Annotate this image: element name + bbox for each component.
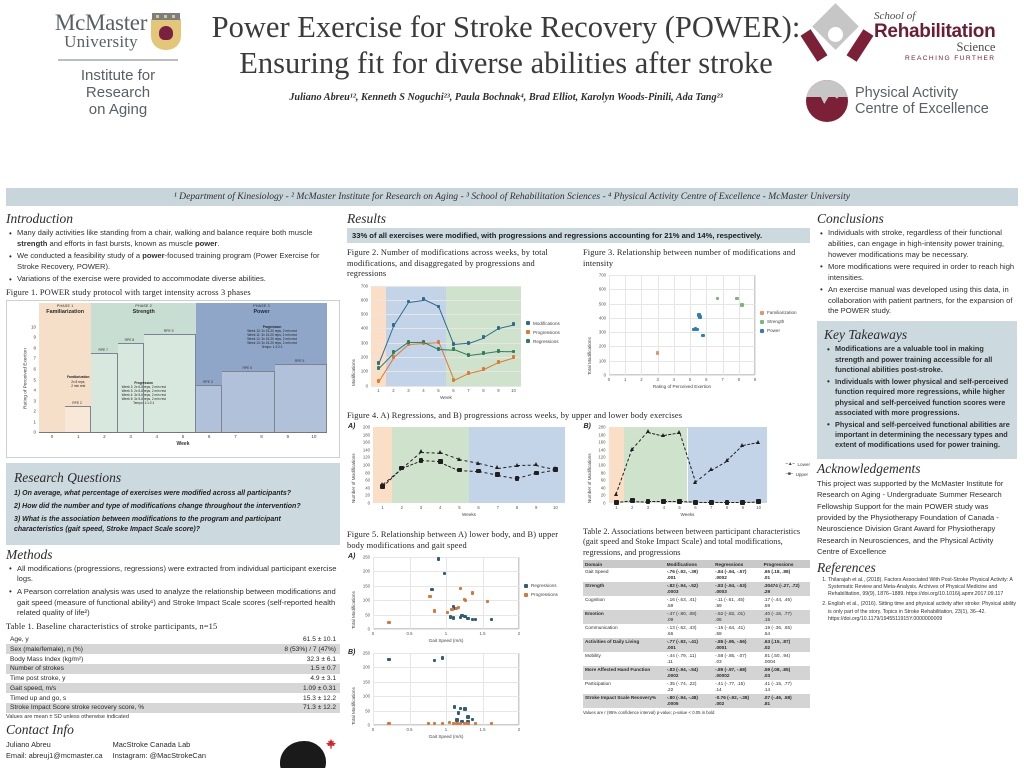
poster-root: McMaster University Institute for Resear…	[0, 0, 1024, 768]
figure1-x-tick: 10	[311, 434, 316, 439]
fig4b-x-tick: 7	[710, 505, 712, 510]
fig4a-y-label: Number of Modifications	[351, 453, 356, 503]
fig2-x-tick: 8	[482, 388, 484, 393]
fig5b-x-tick: 1.5	[480, 727, 486, 732]
fig2-data-point	[452, 378, 456, 382]
fig4b-data-point	[725, 458, 729, 462]
figure1-rpe-label: RPE 5	[242, 366, 252, 370]
fig3-gridline-v	[739, 275, 740, 375]
fig4a-data-point	[553, 467, 558, 472]
fig2-x-tick: 9	[497, 388, 499, 393]
conclusions-bullets: Individuals with stroke, regardless of t…	[817, 228, 1017, 317]
table2-value: -.16 (-.63, .41).59	[665, 596, 713, 610]
methods-bullet: All modifications (progressions, regress…	[6, 564, 340, 586]
table-row: Time post stroke, y4.9 ± 3.1	[6, 674, 340, 684]
fig5a-x-tick: 1.5	[480, 631, 486, 636]
fig3-x-tick: 7	[721, 377, 723, 382]
table2-value: .30474 (-.27, .72).29	[762, 582, 810, 596]
figure1-x-tick: 7	[234, 434, 237, 439]
fig5a-gridline-v	[373, 557, 374, 629]
fig5b-x-tick: 0.5	[407, 727, 413, 732]
legend-swatch	[760, 320, 764, 324]
table2-value: -.77 (-.92, -.41).001	[665, 638, 713, 652]
figure1-rpe-label: RPE 3	[203, 380, 213, 384]
fig5b-data-point	[453, 705, 456, 708]
table2-value: -.58 (-.85, -.07).03	[713, 652, 761, 666]
fig5a-gridline-v	[519, 557, 520, 629]
fig3-x-tick: 9	[754, 377, 756, 382]
legend-label: Regressions	[531, 583, 557, 588]
table-row: Gait speed, m/s1.09 ± 0.31	[6, 683, 340, 693]
fig5b-x-tick: 0	[372, 727, 374, 732]
fig4b-data-point	[661, 499, 666, 504]
fig4a-data-point	[438, 459, 443, 464]
fig4a-data-point	[457, 468, 462, 473]
table-row: Emotion-.47 (-.80, .08).09-.52 (-.82, .0…	[583, 610, 810, 624]
fig4a-data-point	[476, 461, 480, 465]
fig3-x-tick: 0	[608, 377, 610, 382]
table1-note: Values are mean ± SD unless otherwise in…	[6, 714, 340, 720]
acknowledgements-text: This project was supported by the McMast…	[817, 478, 1017, 558]
fig4a-x-tick: 5	[458, 505, 460, 510]
fig2-y-tick: 500	[347, 312, 368, 317]
figure1-phase-header: PHASE 3Power	[196, 303, 327, 320]
fig5a-x-tick: 1	[445, 631, 447, 636]
fig5a-data-point	[430, 588, 433, 591]
fig2-data-point	[497, 349, 501, 353]
fig5b-y-tick: 200	[347, 665, 370, 670]
legend-item: Modifications	[526, 321, 560, 326]
fig5b-gridline-v	[410, 653, 411, 725]
table-row: Body Mass Index (kg/m²)32.3 ± 6.1	[6, 654, 340, 664]
fig5a-data-point	[486, 600, 489, 603]
table2-domain: Communication	[583, 624, 665, 638]
references-list: Thilarajah et al., (2018). Factors Assoc…	[828, 577, 1017, 624]
results-banner: 33% of all exercises were modified, with…	[347, 228, 810, 243]
figure1-x-tick: 9	[286, 434, 289, 439]
rehab-diamond-icon	[806, 8, 868, 66]
figure4-panel-b-label: B)	[584, 423, 591, 430]
table1-label: Timed up and go, s	[6, 693, 241, 703]
figure1-progression-note: ProgressionWeek 2: 2x 6-8 reps, 2 min re…	[84, 381, 204, 406]
figure5a-chart: 05010015020025000.511.52Total Modificati…	[347, 553, 575, 649]
fig2-y-tick: 600	[347, 297, 368, 302]
rehab-logo-line3: Science	[874, 41, 995, 54]
fig3-x-tick: 8	[738, 377, 740, 382]
legend-swatch	[526, 339, 530, 343]
fig2-x-tick: 7	[467, 388, 469, 393]
fig3-gridline-v	[706, 275, 707, 375]
fig4b-x-tick: 4	[663, 505, 665, 510]
fig3-gridline	[609, 346, 755, 347]
fig5b-x-label: Gait Speed (m/s)	[373, 734, 519, 739]
table1-label: Number of strokes	[6, 664, 241, 674]
legend-marker: --▲--	[785, 461, 794, 467]
fig5a-gridline-v	[483, 557, 484, 629]
fig4a-x-label: Weeks	[373, 512, 565, 517]
fig5a-data-point	[471, 591, 474, 594]
figure1-caption: Figure 1. POWER study protocol with targ…	[6, 288, 340, 299]
fig5a-y-label: Total Modifications	[351, 591, 356, 629]
fig4b-x-label: Weeks	[609, 512, 767, 517]
fig3-y-tick: 400	[583, 315, 606, 320]
figure4-panel-a-label: A)	[348, 423, 355, 430]
fig4a-data-point	[515, 476, 520, 481]
fig4b-data-point	[693, 480, 697, 484]
fig2-gridline	[371, 371, 521, 372]
fig4a-x-tick: 4	[439, 505, 441, 510]
fig4b-x-tick: 2	[631, 505, 633, 510]
fig2-x-tick: 6	[452, 388, 454, 393]
table2-value: .65 (.18, .88).01	[762, 568, 810, 582]
table2-value: -.35 (-.74, .22).22	[665, 680, 713, 694]
key-takeaways-heading: Key Takeaways	[824, 327, 1010, 343]
legend-swatch	[526, 330, 530, 334]
pace-logo-line1: Physical Activity	[855, 85, 989, 101]
fig5b-data-point	[387, 658, 390, 661]
fig5b-y-label: Total Modifications	[351, 687, 356, 725]
fig3-gridline	[609, 275, 755, 276]
fig4a-x-tick: 6	[477, 505, 479, 510]
introduction-bullets: Many daily activities like standing from…	[6, 228, 340, 285]
fig3-gridline	[609, 304, 755, 305]
table2-domain: Activities of Daily Living	[583, 638, 665, 652]
table2-header: Modifications	[665, 560, 713, 568]
fig4b-y-tick: 0	[583, 501, 606, 506]
fig5b-data-point	[457, 711, 460, 714]
fig5b-data-point	[441, 722, 444, 725]
fig2-data-point	[482, 367, 486, 371]
fig3-gridline-v	[641, 275, 642, 375]
introduction-bullet: We conducted a feasibility study of a po…	[6, 251, 340, 273]
fig5b-data-point	[459, 722, 462, 725]
fig5b-data-point	[459, 707, 462, 710]
fig3-gridline-v	[625, 275, 626, 375]
table-row: Stroke Impact Score stroke recovery scor…	[6, 703, 340, 713]
fig2-data-point	[437, 347, 441, 351]
figure1-x-tick: 1	[77, 434, 80, 439]
table2-value: .63 (.15, .87).02	[762, 638, 810, 652]
fig4b-data-point	[614, 500, 619, 505]
figure1-rpe-label: RPE 5	[295, 359, 305, 363]
fig3-x-tick: 1	[624, 377, 626, 382]
fig5a-data-point	[457, 606, 460, 609]
fig2-data-point	[467, 371, 471, 375]
research-question: 1) On average, what percentage of exerci…	[14, 489, 332, 498]
table2-domain: Stroke Impact Scale Recovery%	[583, 694, 665, 708]
table2-value: -.13 (-.62, .43).66	[665, 624, 713, 638]
fig2-x-tick: 4	[422, 388, 424, 393]
table-row: Cognition-.16 (-.63, .41).59-.11 (-.61, …	[583, 596, 810, 610]
pace-logo-line2: Centre of Excellence	[855, 101, 989, 117]
fig4b-data-point	[756, 499, 761, 504]
table-row: Number of strokes1.5 ± 0.7	[6, 664, 340, 674]
table1-value: 1.09 ± 0.31	[241, 683, 340, 693]
figure4b-chart: 02040608010012014016018020012345678910Nu…	[583, 423, 811, 523]
fig3-gridline	[609, 375, 755, 376]
legend-label: Familiarization	[767, 310, 797, 315]
fig5b-gridline-v	[519, 653, 520, 725]
legend-swatch	[760, 329, 764, 333]
fig4a-data-point	[419, 449, 423, 453]
table-row: Stroke Impact Scale Recovery%-.80 (-.94,…	[583, 694, 810, 708]
legend-swatch	[524, 593, 528, 597]
fig5b-data-point	[471, 718, 474, 721]
legend-swatch	[526, 321, 530, 325]
key-takeaways-bullets: Modifications are a valuable tool in mak…	[824, 344, 1010, 451]
table1-label: Time post stroke, y	[6, 674, 241, 684]
macstroke-brain-icon: McMaster University	[278, 739, 340, 768]
fig5b-gridline-v	[483, 653, 484, 725]
legend-label: Progressions	[533, 330, 560, 335]
research-question: 2) How did the number and type of modifi…	[14, 502, 332, 511]
fig4a-data-point	[419, 458, 424, 463]
legend-item: Progressions	[526, 330, 560, 335]
fig4b-y-label: Number of Modifications	[587, 453, 592, 503]
logo-divider	[58, 59, 178, 61]
fig2-data-point	[482, 335, 486, 339]
figure1-y-tick: 0	[23, 430, 36, 435]
figure1-x-tick: 3	[129, 434, 132, 439]
school-of-rehabilitation-science-logo: School of Rehabilitation Science REACHIN…	[806, 8, 1018, 66]
figure5-caption: Figure 5. Relationship between A) lower …	[347, 530, 575, 551]
figure1-x-tick: 2	[103, 434, 106, 439]
conclusions-heading: Conclusions	[817, 211, 1017, 227]
legend-item: Strength	[760, 319, 797, 324]
rehab-logo-line2: Rehabilitation	[874, 22, 995, 41]
fig4b-data-point	[630, 447, 634, 451]
figure1-step	[222, 371, 274, 432]
fig4a-y-tick: 160	[347, 440, 370, 445]
fig5b-data-point	[463, 707, 466, 710]
fig2-gridline	[371, 286, 521, 287]
title-block: Power Exercise for Stroke Recovery (POWE…	[206, 10, 806, 103]
figure1-x-tick: 5	[182, 434, 185, 439]
fig2-y-label: Modifications	[351, 359, 356, 386]
figure1-x-label: Week	[39, 441, 327, 447]
fig4a-x-tick: 9	[535, 505, 537, 510]
fig4b-x-tick: 8	[726, 505, 728, 510]
research-questions-list: 1) On average, what percentage of exerci…	[14, 489, 332, 534]
fig2-data-point	[497, 360, 501, 364]
mcmaster-university-logo: McMaster University Institute for Resear…	[38, 12, 198, 118]
fig2-data-point	[377, 366, 381, 370]
reference-item: English et al., (2016). Sitting time and…	[828, 601, 1017, 623]
table1-label: Age, y	[6, 635, 241, 645]
author-list: Juliano Abreu¹², Kenneth S Noguchi²³, Pa…	[206, 92, 806, 103]
table2-value: .07 (-.46, .58).81	[762, 694, 810, 708]
figure2-chart: 010020030040050060070012345678910Modific…	[347, 282, 575, 408]
fig4b-data-point	[677, 430, 681, 434]
fig4b-x-tick: 1	[615, 505, 617, 510]
fig5a-x-tick: 0.5	[407, 631, 413, 636]
figure1-y-tick: 10	[23, 324, 36, 329]
fig3-gridline-v	[690, 275, 691, 375]
legend-label: Modifications	[533, 321, 560, 326]
table-row: Participation-.35 (-.74, .22).22-.41 (-.…	[583, 680, 810, 694]
table-row: More Affected Hand Function-.83 (-.94, -…	[583, 666, 810, 680]
fig4b-data-point	[614, 492, 618, 496]
table2-value: -.44 (-.79, .11).11	[665, 652, 713, 666]
figure4-legend: --▲--Lower--■--Upper	[785, 461, 810, 481]
rehab-logo-tagline: REACHING FURTHER	[874, 56, 995, 63]
page-title: Power Exercise for Stroke Recovery (POWE…	[206, 10, 806, 81]
fig2-x-label: Week	[371, 395, 521, 400]
fig4b-data-point	[740, 500, 745, 505]
fig5a-data-point	[466, 617, 469, 620]
fig4a-x-tick: 1	[381, 505, 383, 510]
fig4b-data-point	[677, 499, 682, 504]
legend-item: --▲--Lower	[785, 461, 810, 467]
fig4b-data-point	[693, 500, 698, 505]
fig3-y-tick: 700	[583, 273, 606, 278]
table2-domain: More Affected Hand Function	[583, 666, 665, 680]
table2-value: -.82 (-.94, -.52).0003	[665, 582, 713, 596]
fig4b-y-tick: 40	[583, 485, 606, 490]
mcmaster-crest-icon	[151, 12, 181, 50]
fig3-data-point	[696, 328, 699, 331]
table-row: Communication-.13 (-.62, .43).66-.16 (-.…	[583, 624, 810, 638]
contact-email[interactable]: Email: abreuj1@mcmaster.ca	[6, 750, 103, 761]
table2-value: .40 (-.16, .77).15	[762, 610, 810, 624]
fig5b-data-point	[427, 722, 430, 725]
references-block: References Thilarajah et al., (2018). Fa…	[817, 560, 1017, 624]
fig3-x-tick: 5	[689, 377, 691, 382]
fig2-y-tick: 400	[347, 326, 368, 331]
figure5-panel-b-label: B)	[348, 649, 355, 656]
table1-value: 71.3 ± 12.2	[241, 703, 340, 713]
fig3-x-label: Rating of Perceived Exertion	[609, 384, 755, 389]
references-heading: References	[817, 560, 1017, 576]
contact-info-block: Juliano Abreu Email: abreuj1@mcmaster.ca…	[6, 739, 340, 768]
fig5b-data-point	[466, 715, 469, 718]
fig5a-data-point	[446, 611, 449, 614]
table-row: Activities of Daily Living-.77 (-.92, -.…	[583, 638, 810, 652]
fig4a-data-point	[399, 466, 404, 471]
table2-value: .19 (-.36, .65).54	[762, 624, 810, 638]
fig5b-data-point	[387, 722, 390, 725]
fig5b-data-point	[455, 718, 458, 721]
table2-value: -.83 (-.94, -.54).0002	[665, 666, 713, 680]
research-question: 3) What is the association between modif…	[14, 515, 332, 534]
fig3-x-tick: 3	[656, 377, 658, 382]
figure1-x-tick: 6	[208, 434, 211, 439]
fig2-data-point	[497, 326, 501, 330]
legend-swatch	[524, 584, 528, 588]
legend-item: Regressions	[524, 583, 558, 588]
fig5b-x-tick: 2	[518, 727, 520, 732]
fig5b-data-point	[433, 722, 436, 725]
fig3-data-point	[716, 297, 719, 300]
methods-heading: Methods	[6, 547, 340, 563]
table2-domain: Participation	[583, 680, 665, 694]
fig4b-data-point	[725, 500, 730, 505]
contact-lab-name: MacStroke Canada Lab	[113, 739, 206, 750]
fig4b-x-tick: 3	[647, 505, 649, 510]
table2-value: .81 (.50, .94).0004	[762, 652, 810, 666]
table2-header: Progressions	[762, 560, 810, 568]
table2-value: .59 (.08, .85).03	[762, 666, 810, 680]
fig5b-gridline-v	[373, 653, 374, 725]
fig4b-y-tick: 120	[583, 455, 606, 460]
table1-value: 32.3 ± 6.1	[241, 654, 340, 664]
contact-person: Juliano Abreu Email: abreuj1@mcmaster.ca	[6, 739, 103, 761]
legend-label: Power	[767, 328, 780, 333]
figure1-phase-header: PHASE 1Familiarization	[39, 303, 91, 320]
fig4b-data-point	[646, 429, 650, 433]
figure3-caption: Figure 3. Relationship between number of…	[583, 248, 811, 269]
poster-columns: Introduction Many daily activities like …	[0, 206, 1024, 768]
fig4b-data-point	[756, 440, 760, 444]
legend-label: Regressions	[533, 339, 559, 344]
legend-item: Regressions	[526, 339, 560, 344]
figure1-rpe-label: RPE 8	[125, 338, 135, 342]
figure4a-chart: 02040608010012014016018020012345678910Nu…	[347, 423, 575, 523]
fig4a-data-point	[495, 465, 499, 469]
fig2-data-point	[467, 341, 471, 345]
fig3-gridline-v	[674, 275, 675, 375]
table1-value: 8 (53%) / 7 (47%)	[241, 644, 340, 654]
contact-instagram[interactable]: Instagram: @MacStrokeCan	[113, 750, 206, 761]
fig4a-data-point	[380, 484, 385, 489]
fig2-gridline	[371, 386, 521, 387]
fig2-x-tick: 10	[511, 388, 516, 393]
methods-bullet: A Pearson correlation analysis was used …	[6, 587, 340, 619]
reference-item: Thilarajah et al., (2018). Factors Assoc…	[828, 577, 1017, 599]
figure5b-chart: 05010015020025000.511.52Total Modificati…	[347, 649, 575, 745]
fig5a-x-tick: 0	[372, 631, 374, 636]
table2-domain: Cognition	[583, 596, 665, 610]
table2-value: -.84 (-.94, -.57).0002	[713, 568, 761, 582]
baseline-characteristics-table: Age, y61.5 ± 10.1Sex (male/female), n (%…	[6, 635, 340, 713]
fig4a-x-tick: 2	[401, 505, 403, 510]
fig2-x-tick: 1	[377, 388, 379, 393]
table1-label: Sex (male/female), n (%)	[6, 644, 241, 654]
table2-value: -.83 (-.94, -.53).0003	[713, 582, 761, 596]
fig4a-data-point	[495, 472, 500, 477]
figure3-chart: 01002003004005006007000123456789Total Mo…	[583, 271, 811, 397]
contact-lab: MacStroke Canada Lab Instagram: @MacStro…	[113, 739, 206, 761]
figure4-caption: Figure 4. A) Regressions, and B) progres…	[347, 411, 810, 422]
table2-domain: Gait Speed	[583, 568, 665, 582]
fig3-y-tick: 300	[583, 330, 606, 335]
table2-note: Values are r (95% confidence interval) p…	[583, 710, 810, 715]
table2-value: .17 (-.44, .46).59	[762, 596, 810, 610]
fig4a-data-point	[534, 471, 539, 476]
fig4a-data-point	[476, 469, 481, 474]
associations-table: DomainModificationsRegressionsProgressio…	[583, 560, 810, 708]
fig4b-data-point	[646, 499, 651, 504]
left-column: Introduction Many daily activities like …	[6, 209, 340, 768]
fig3-data-point	[701, 334, 704, 337]
fig3-x-tick: 2	[640, 377, 642, 382]
fig5a-gridline	[373, 629, 519, 630]
fig2-data-point	[392, 323, 396, 327]
fig5b-data-point	[474, 722, 477, 725]
table-row: Gait Speed-.76 (-.92, -.39).001-.84 (-.9…	[583, 568, 810, 582]
fig3-data-point	[735, 297, 738, 300]
fig2-x-tick: 5	[437, 388, 439, 393]
figure1-progression-note: ProgressionWeek 10: 2x 15-20 reps, 2 min…	[212, 325, 332, 350]
fig5a-legend: RegressionsProgressions	[524, 583, 558, 601]
figure1-rpe-label: RPE 9	[164, 329, 174, 333]
table1-label: Body Mass Index (kg/m²)	[6, 654, 241, 664]
figure1-container: PHASE 1FamiliarizationPHASE 2StrengthPHA…	[6, 300, 340, 458]
fig4a-data-point	[515, 463, 519, 467]
fig4b-data-point	[740, 443, 744, 447]
table2-value: -.16 (-.64, .41).59	[713, 624, 761, 638]
legend-item: Progressions	[524, 592, 558, 597]
